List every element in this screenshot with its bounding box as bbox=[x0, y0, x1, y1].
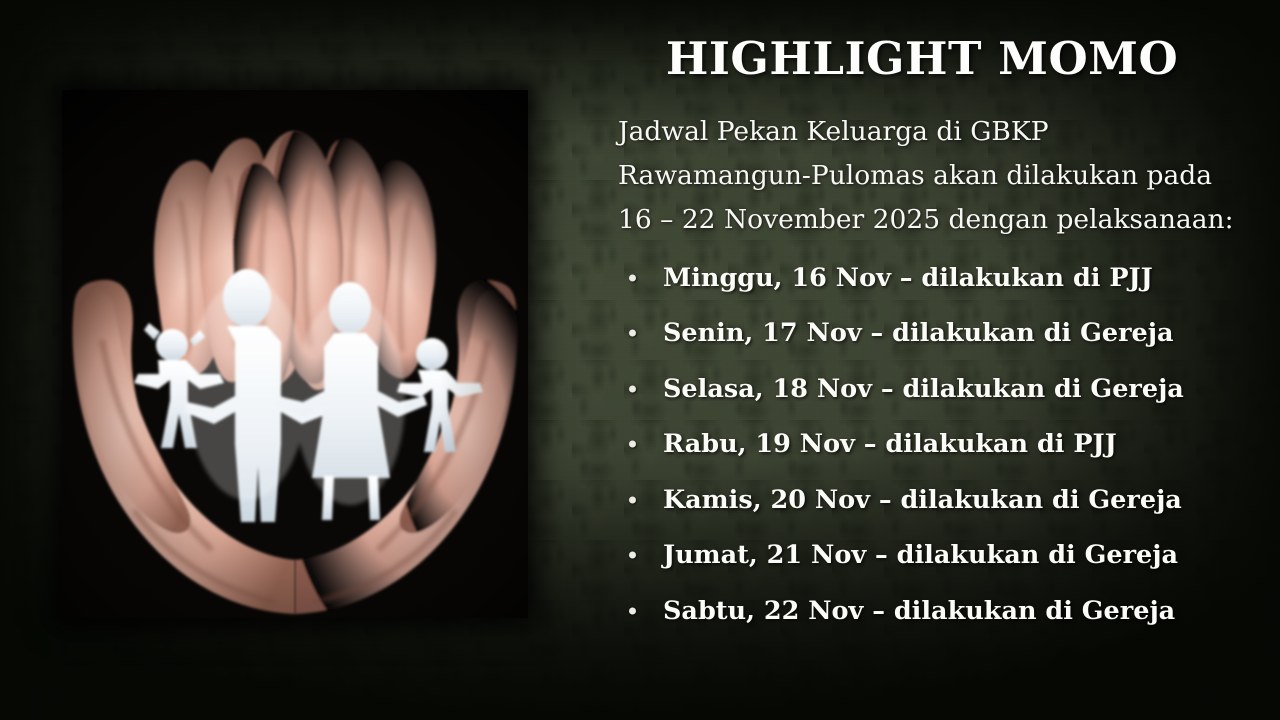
slide-title: HIGHLIGHT MOMO bbox=[612, 36, 1232, 81]
bullet-point-icon bbox=[629, 274, 636, 281]
schedule-item-sabtu: Sabtu, 22 Nov – dilakukan di Gereja bbox=[618, 583, 1252, 639]
family-photo bbox=[62, 90, 528, 618]
slide: HIGHLIGHT MOMO Jadwal Pekan Keluarga di … bbox=[0, 0, 1280, 720]
schedule-item-rabu: Rabu, 19 Nov – dilakukan di PJJ bbox=[618, 417, 1252, 473]
schedule-item-text: Minggu, 16 Nov – dilakukan di PJJ bbox=[618, 264, 1153, 292]
schedule-list: Minggu, 16 Nov – dilakukan di PJJ Senin,… bbox=[618, 250, 1252, 639]
bullet-point-icon bbox=[629, 552, 636, 559]
text-column: HIGHLIGHT MOMO Jadwal Pekan Keluarga di … bbox=[612, 0, 1252, 720]
bullet-point-icon bbox=[629, 441, 636, 448]
schedule-item-text: Senin, 17 Nov – dilakukan di Gereja bbox=[618, 319, 1174, 347]
schedule-item-senin: Senin, 17 Nov – dilakukan di Gereja bbox=[618, 306, 1252, 362]
schedule-item-kamis: Kamis, 20 Nov – dilakukan di Gereja bbox=[618, 472, 1252, 528]
bullet-point-icon bbox=[629, 496, 636, 503]
schedule-item-text: Kamis, 20 Nov – dilakukan di Gereja bbox=[618, 486, 1182, 514]
slide-intro-paragraph: Jadwal Pekan Keluarga di GBKP Rawamangun… bbox=[618, 110, 1242, 242]
schedule-item-minggu: Minggu, 16 Nov – dilakukan di PJJ bbox=[618, 250, 1252, 306]
schedule-item-text: Rabu, 19 Nov – dilakukan di PJJ bbox=[618, 430, 1117, 458]
schedule-item-text: Selasa, 18 Nov – dilakukan di Gereja bbox=[618, 375, 1184, 403]
bullet-point-icon bbox=[629, 330, 636, 337]
bullet-point-icon bbox=[629, 385, 636, 392]
schedule-item-selasa: Selasa, 18 Nov – dilakukan di Gereja bbox=[618, 361, 1252, 417]
hands-holding-paper-family-illustration bbox=[62, 90, 528, 618]
schedule-item-jumat: Jumat, 21 Nov – dilakukan di Gereja bbox=[618, 528, 1252, 584]
schedule-item-text: Sabtu, 22 Nov – dilakukan di Gereja bbox=[618, 597, 1175, 625]
bullet-point-icon bbox=[629, 607, 636, 614]
schedule-item-text: Jumat, 21 Nov – dilakukan di Gereja bbox=[618, 541, 1178, 569]
